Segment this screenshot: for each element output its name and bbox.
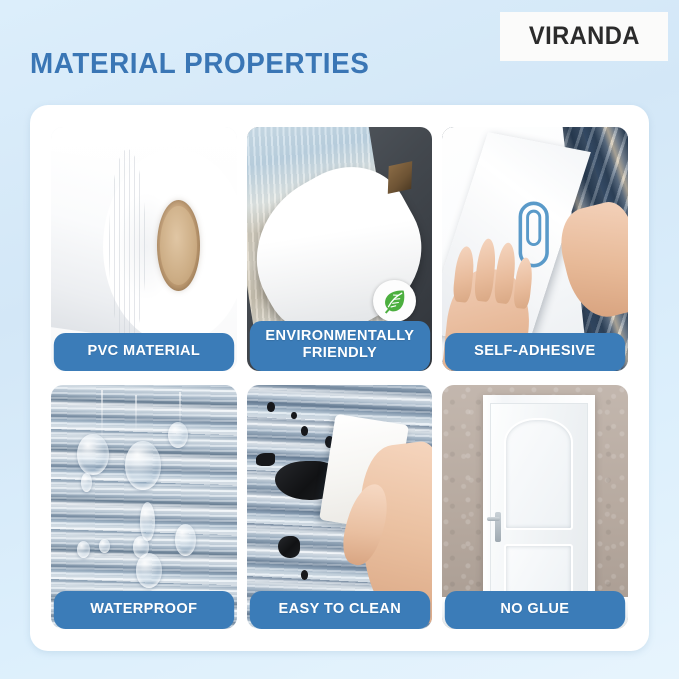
leaf-icon [380,287,408,315]
feature-tile-pvc-material[interactable]: PVC MATERIAL [51,127,237,371]
feature-label-no-glue: NO GLUE [445,591,625,629]
brand-name: VIRANDA [529,22,640,51]
feature-label-waterproof: WATERPROOF [54,591,234,629]
feature-label-easy-to-clean: EASY TO CLEAN [249,591,429,629]
feature-tile-environmentally-friendly[interactable]: ENVIRONMENTALLY FRIENDLY [247,127,433,371]
door-handle [495,512,502,542]
feature-label-environmentally-friendly: ENVIRONMENTALLY FRIENDLY [249,321,429,371]
feature-label-pvc-material: PVC MATERIAL [54,333,234,371]
page-header: MATERIAL PROPERTIES VIRANDA [0,0,679,105]
brand-logo: VIRANDA [500,12,668,61]
feature-card: PVC MATERIAL ENVIRONME [30,105,649,651]
door-frame [483,395,594,605]
feature-label-line2: FRIENDLY [253,345,425,362]
door-leaf [490,403,588,604]
feature-tile-easy-to-clean[interactable]: EASY TO CLEAN [247,385,433,629]
feature-grid: PVC MATERIAL ENVIRONME [51,127,628,629]
page-title: MATERIAL PROPERTIES [30,48,369,81]
feature-tile-waterproof[interactable]: WATERPROOF [51,385,237,629]
feature-tile-self-adhesive[interactable]: SELF-ADHESIVE [442,127,628,371]
feature-tile-no-glue[interactable]: NO GLUE [442,385,628,629]
feature-label-line1: ENVIRONMENTALLY [253,328,425,345]
feature-label-self-adhesive: SELF-ADHESIVE [445,333,625,371]
leaf-badge [373,280,416,323]
